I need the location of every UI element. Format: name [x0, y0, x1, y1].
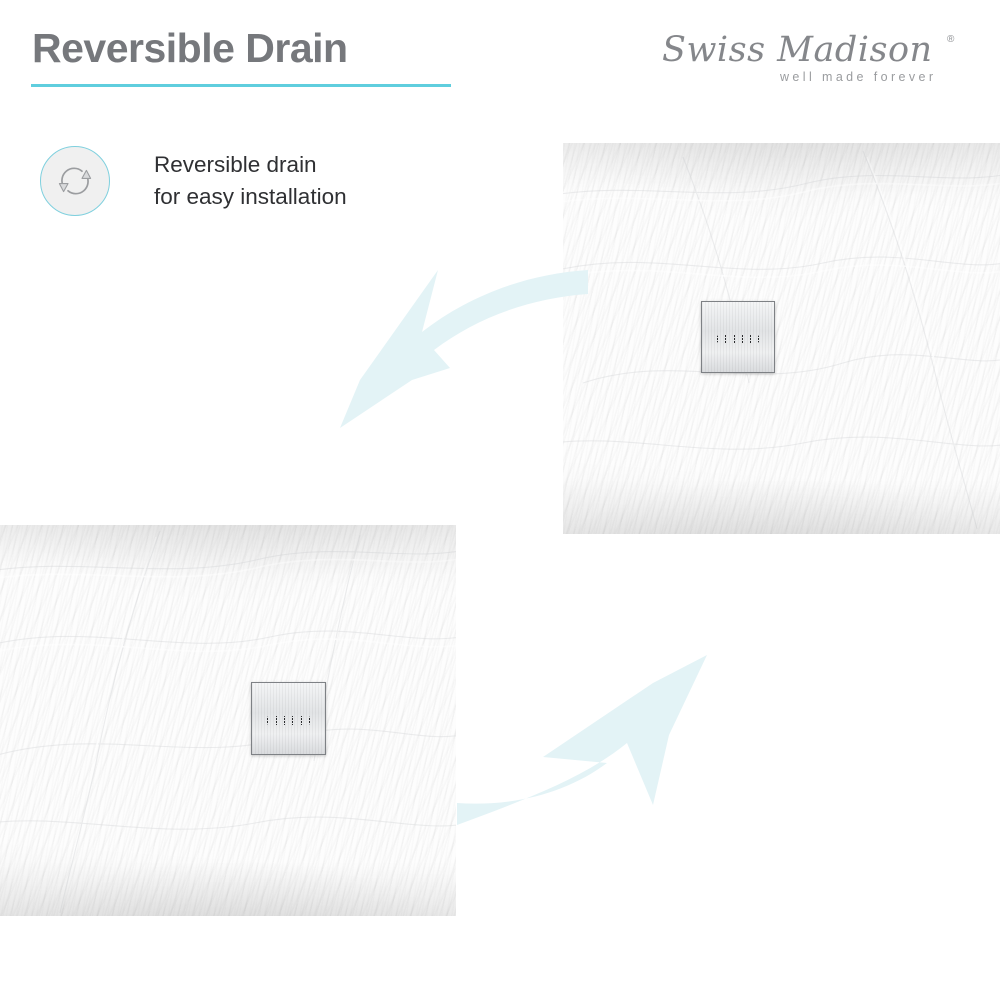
drain-cover-bottom: [251, 682, 326, 755]
drain-hole-grid-bottom: [267, 716, 309, 720]
brand-name: Swiss Madison: [662, 28, 967, 72]
drain-hole: [742, 342, 743, 343]
drain-hole: [267, 724, 268, 725]
arrow-pointing-up-right: [455, 615, 755, 860]
shower-base-veins: [563, 143, 1000, 534]
reversible-rotation-icon: [40, 146, 110, 216]
registered-trademark-icon: ®: [947, 34, 954, 45]
drain-hole: [717, 342, 718, 343]
brand-tagline: well made forever: [780, 70, 936, 84]
feature-text-line-1: Reversible drain: [154, 149, 347, 181]
drain-hole: [292, 724, 293, 725]
page-title: Reversible Drain: [32, 28, 348, 69]
product-image-top: [563, 143, 1000, 534]
drain-hole: [309, 724, 310, 725]
drain-hole: [276, 724, 277, 725]
feature-text-line-2: for easy installation: [154, 181, 347, 213]
drain-hole: [758, 342, 759, 343]
drain-hole: [301, 724, 302, 725]
drain-cover-top: [701, 301, 775, 373]
title-underline-rule: [31, 84, 451, 87]
drain-hole: [284, 724, 285, 725]
drain-hole: [750, 342, 751, 343]
shower-base-veins: [0, 525, 456, 916]
brand-logo: Swiss Madison ® well made forever: [662, 28, 967, 88]
drain-hole: [725, 342, 726, 343]
arrow-pointing-down-left: [300, 252, 590, 442]
feature-text: Reversible drain for easy installation: [154, 149, 347, 213]
product-image-bottom: [0, 525, 456, 916]
drain-hole: [734, 342, 735, 343]
infographic-canvas: Reversible Drain Swiss Madison ® well ma…: [0, 0, 1000, 1000]
drain-hole-grid-top: [717, 335, 759, 339]
feature-callout: Reversible drain for easy installation: [40, 146, 347, 216]
